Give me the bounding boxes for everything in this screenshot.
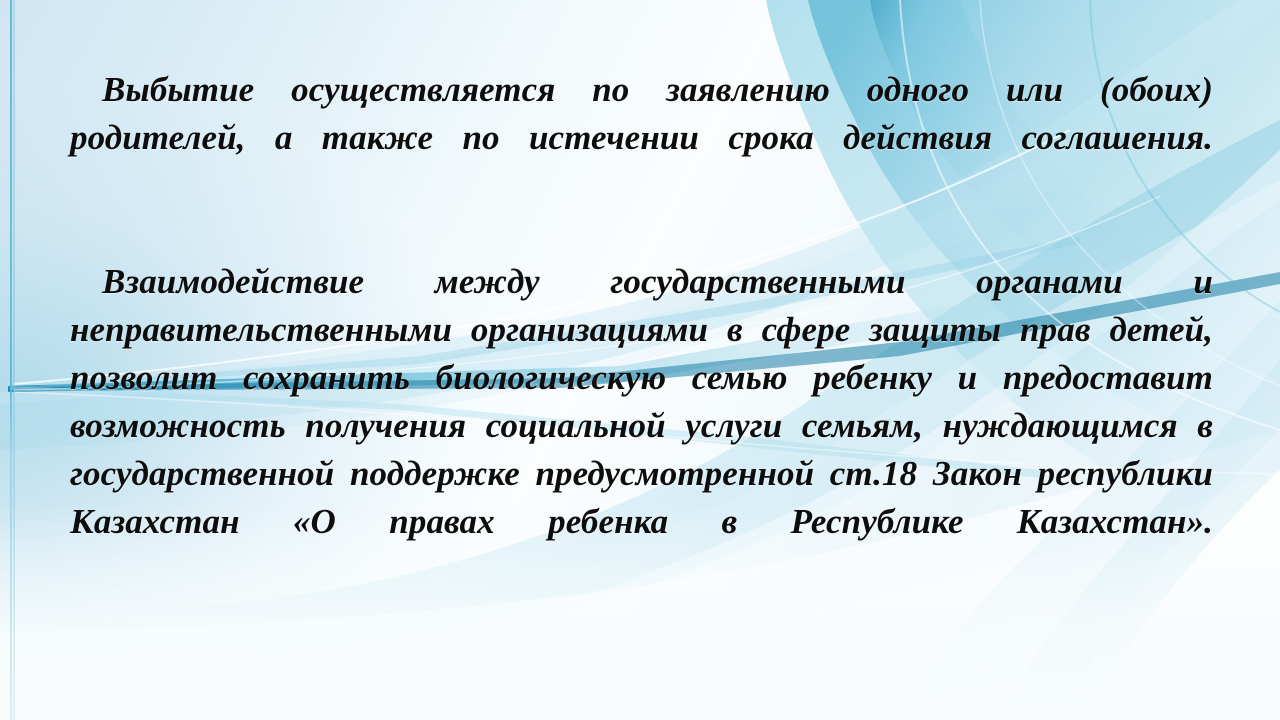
slide-body-text: Выбытие осуществляется по заявлению одно… [70, 66, 1213, 594]
body-paragraph-1: Выбытие осуществляется по заявлению одно… [70, 66, 1213, 210]
left-edge-accent-line [10, 0, 12, 720]
presentation-slide: Выбытие осуществляется по заявлению одно… [0, 0, 1280, 720]
body-paragraph-2: Взаимодействие между государственными ор… [70, 258, 1213, 594]
left-edge-accent-line-secondary [13, 0, 15, 720]
